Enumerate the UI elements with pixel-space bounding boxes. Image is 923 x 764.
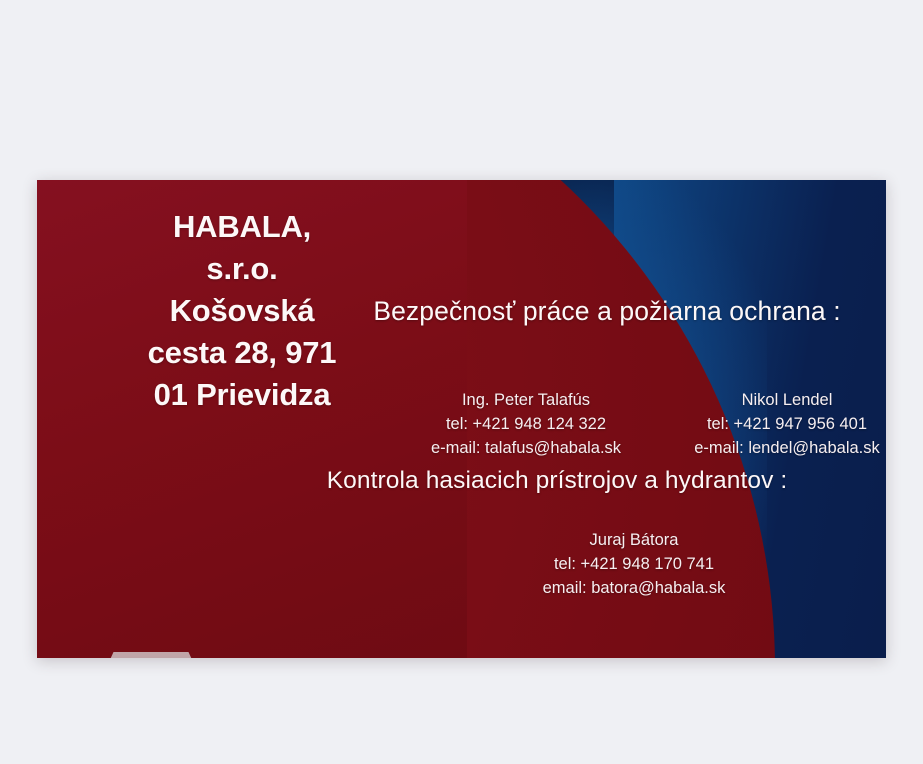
business-card: HABALA, s.r.o. Košovská cesta 28, 971 01… [37,180,886,658]
page-canvas: HABALA, s.r.o. Košovská cesta 28, 971 01… [0,0,923,764]
company-line-1: HABALA, [83,206,401,248]
company-line-5: 01 Prievidza [83,374,401,416]
contact-name: Juraj Bátora [499,528,769,552]
contact-email[interactable]: e-mail: lendel@habala.sk [651,436,886,460]
contact-phone[interactable]: tel: +421 948 124 322 [391,412,661,436]
contact-phone[interactable]: tel: +421 947 956 401 [651,412,886,436]
company-line-2: s.r.o. [83,248,401,290]
contact-phone[interactable]: tel: +421 948 170 741 [499,552,769,576]
contact-block-lendel: Nikol Lendel tel: +421 947 956 401 e-mai… [651,388,886,460]
contact-email[interactable]: e-mail: talafus@habala.sk [391,436,661,460]
contact-block-talafus: Ing. Peter Talafús tel: +421 948 124 322… [391,388,661,460]
contact-name: Ing. Peter Talafús [391,388,661,412]
section-heading-safety: Bezpečnosť práce a požiarna ochrana : [357,292,857,330]
contact-email[interactable]: email: batora@habala.sk [499,576,769,600]
contact-name: Nikol Lendel [651,388,886,412]
section-heading-extinguisher-check: Kontrola hasiacich prístrojov a hydranto… [227,464,886,498]
company-name-address: HABALA, s.r.o. Košovská cesta 28, 971 01… [83,206,401,416]
contact-block-batora: Juraj Bátora tel: +421 948 170 741 email… [499,528,769,600]
company-line-3: Košovská [83,290,401,332]
company-line-4: cesta 28, 971 [83,332,401,374]
